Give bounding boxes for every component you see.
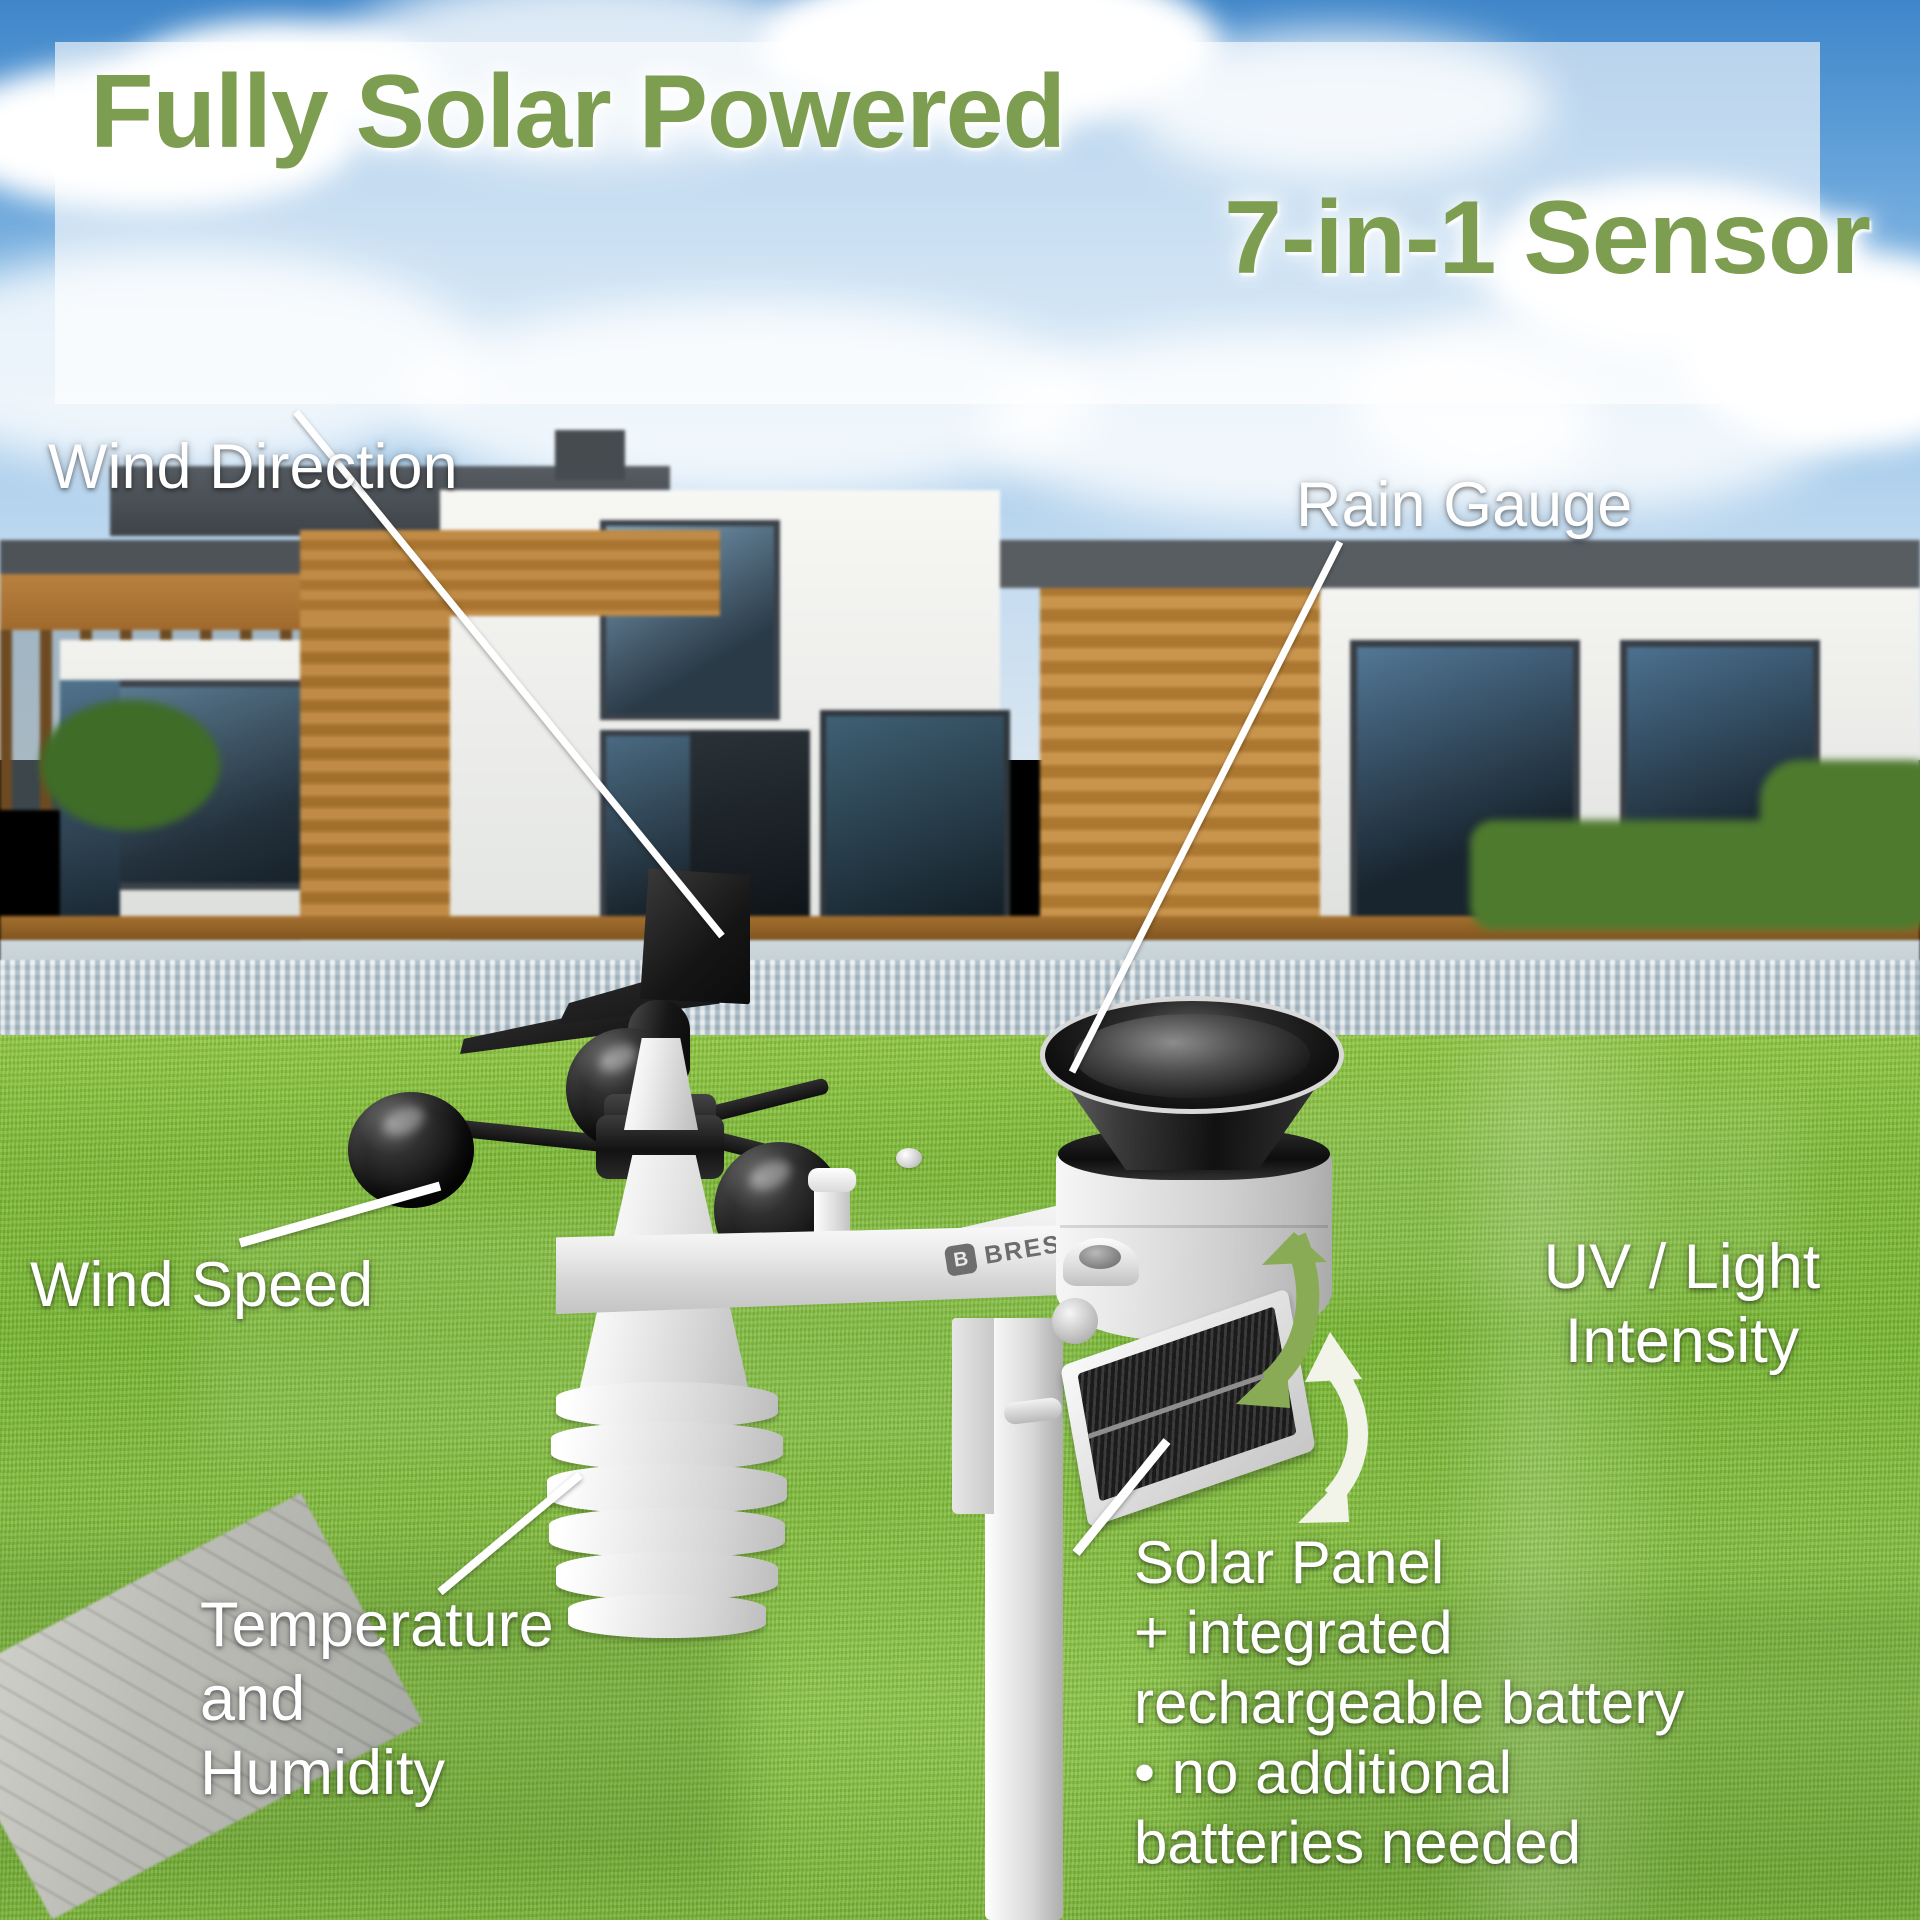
charge-arrow-tail-head bbox=[1236, 1356, 1290, 1408]
leader-line-wind-speed bbox=[240, 1186, 440, 1243]
discharge-arrow-head-down bbox=[1298, 1474, 1349, 1523]
discharge-arrow-head-up bbox=[1305, 1332, 1362, 1382]
label-uv-light-intensity: UV / Light Intensity bbox=[1462, 1230, 1902, 1378]
label-wind-direction: Wind Direction bbox=[48, 430, 458, 504]
headline-line-2: 7-in-1 Sensor bbox=[90, 182, 1890, 294]
label-solar-panel: Solar Panel + integrated rechargeable ba… bbox=[1134, 1528, 1920, 1878]
headline-line-1: Fully Solar Powered bbox=[90, 56, 1890, 168]
label-wind-speed: Wind Speed bbox=[30, 1248, 373, 1322]
leader-line-temperature-humidity bbox=[440, 1475, 580, 1592]
leader-line-rain-gauge bbox=[1072, 542, 1340, 1072]
label-temperature-humidity: Temperature and Humidity bbox=[200, 1588, 554, 1810]
product-infographic: B BRESSER bbox=[0, 0, 1920, 1920]
headline: Fully Solar Powered 7-in-1 Sensor bbox=[90, 56, 1890, 294]
label-rain-gauge: Rain Gauge bbox=[1296, 468, 1632, 542]
